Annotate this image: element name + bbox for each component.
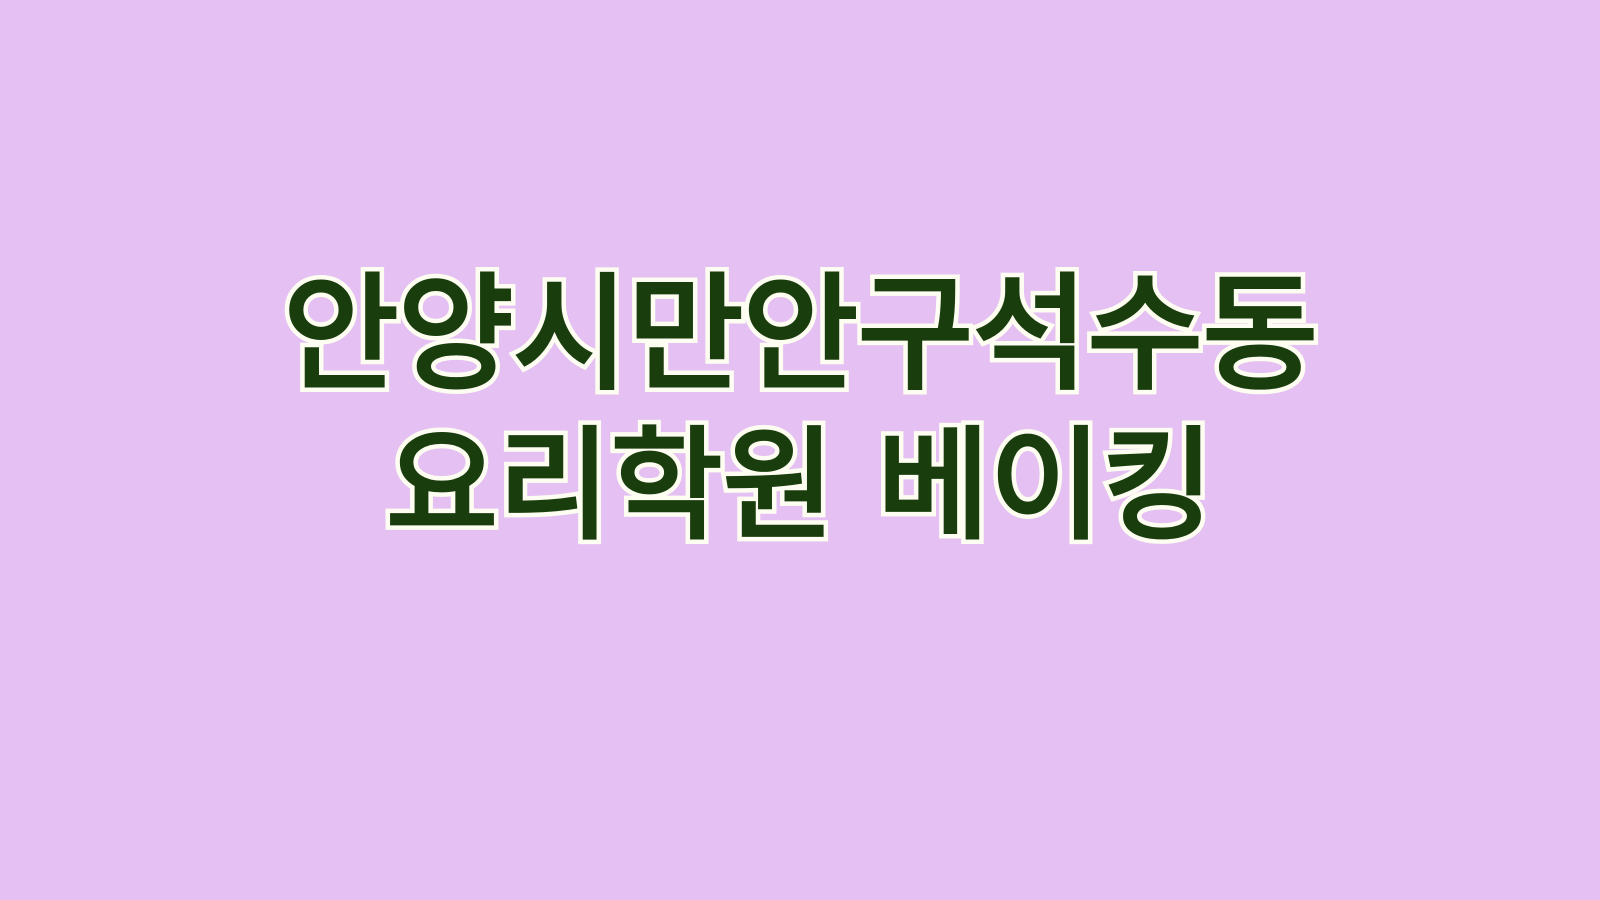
promo-banner: 안양시만안구석수동 요리학원 베이킹: [0, 0, 1600, 900]
headline-block: 안양시만안구석수동 요리학원 베이킹: [283, 262, 1317, 566]
headline-line-1: 안양시만안구석수동: [283, 262, 1317, 416]
headline-line-2: 요리학원 베이킹: [386, 416, 1214, 566]
